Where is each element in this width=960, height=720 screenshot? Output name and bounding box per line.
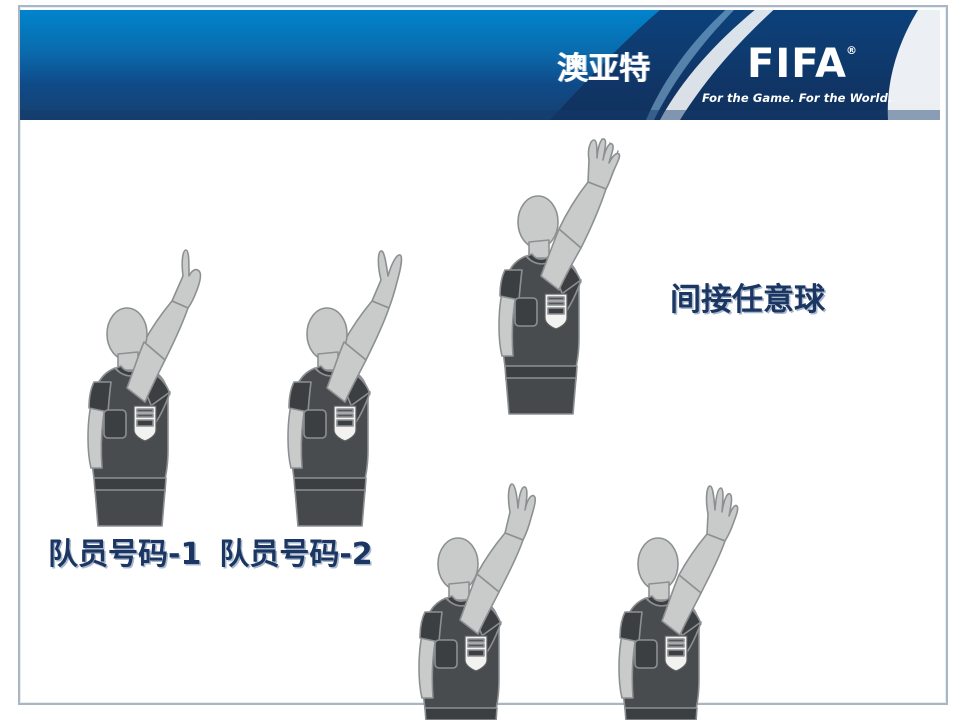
referee-player-number-3 xyxy=(413,458,563,720)
header-banner: 澳亚特 FIFA® For the Game. For the World. xyxy=(20,10,940,120)
referee-figure-one-finger xyxy=(82,228,232,528)
referee-figure-open-hand xyxy=(493,130,643,430)
referee-player-number-1 xyxy=(82,228,232,528)
referee-player-number-2 xyxy=(282,228,432,528)
referee-figure-two-fingers xyxy=(282,228,432,528)
fifa-wordmark: FIFA® xyxy=(747,44,847,84)
referee-player-number-4 xyxy=(613,458,763,720)
caption-player-number-1: 队员号码-1 xyxy=(48,537,201,572)
header-title: 澳亚特 xyxy=(557,54,650,85)
slide-root: 澳亚特 FIFA® For the Game. For the World. xyxy=(0,0,960,720)
referee-indirect-free-kick xyxy=(493,130,643,430)
fifa-logo: FIFA® For the Game. For the World. xyxy=(702,44,892,105)
registered-trademark-icon: ® xyxy=(846,45,858,56)
referee-figure-four-fingers xyxy=(613,458,763,720)
slide-canvas: 间接任意球 xyxy=(20,120,940,705)
fifa-tagline: For the Game. For the World. xyxy=(702,91,892,105)
caption-row-player-1-2: 队员号码-1队员号码-2 xyxy=(48,540,373,570)
caption-player-number-2: 队员号码-2 xyxy=(219,537,372,572)
referee-figure-three-fingers xyxy=(413,458,563,720)
caption-indirect-free-kick: 间接任意球 xyxy=(670,285,825,316)
